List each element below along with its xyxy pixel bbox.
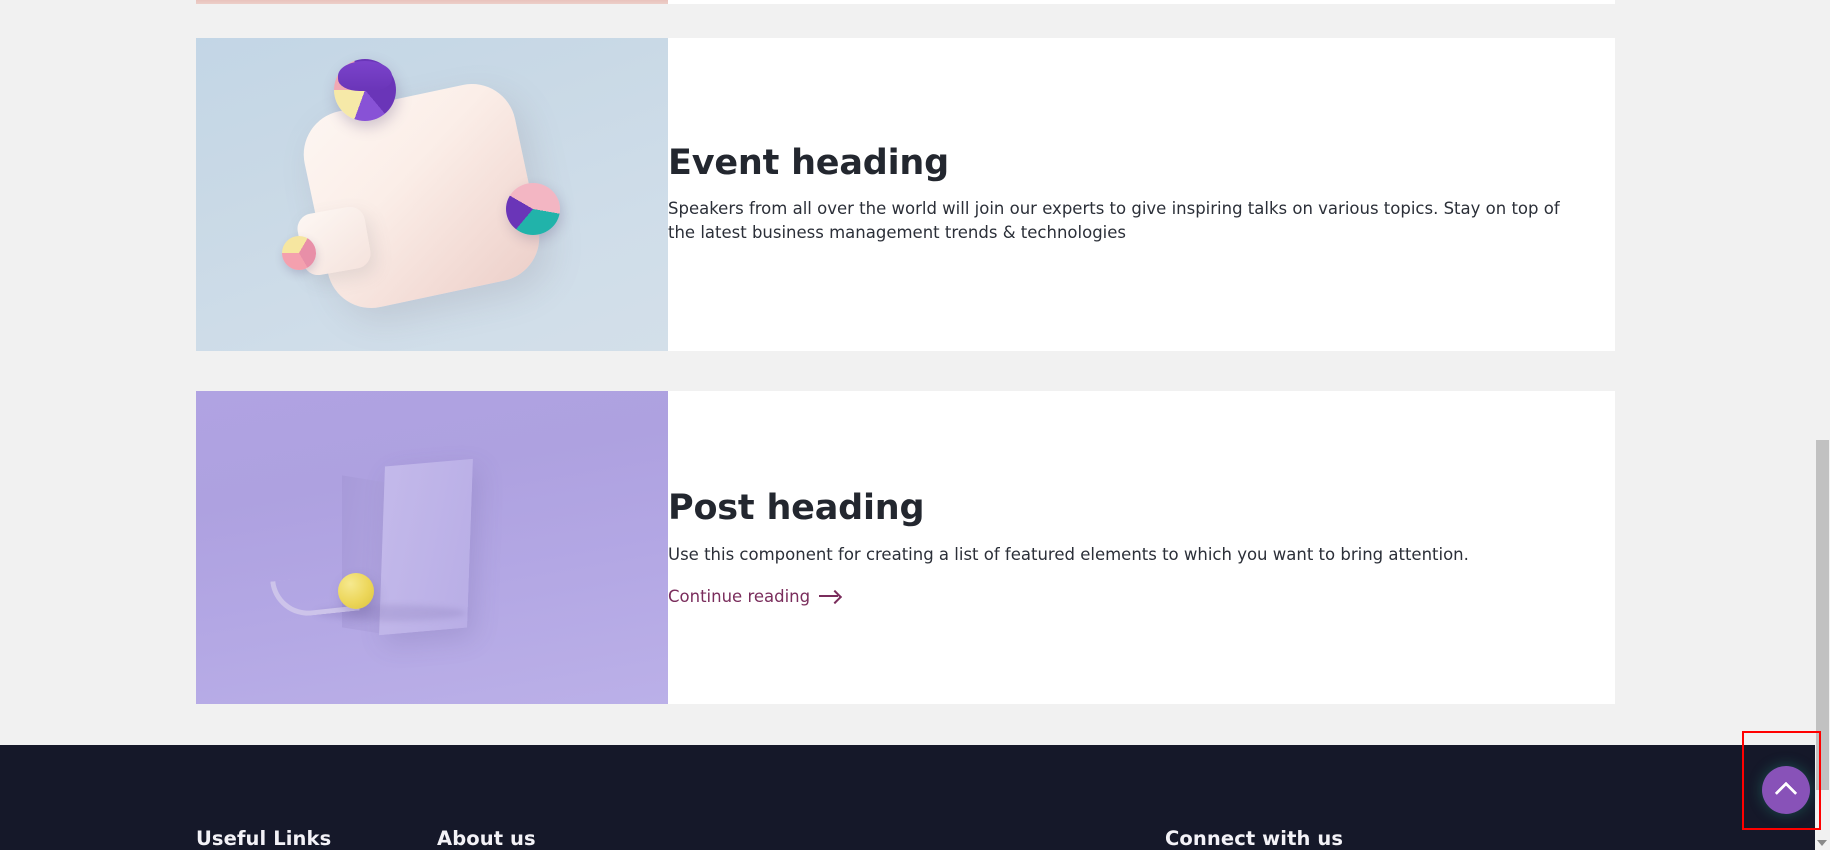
post-yellow-sphere [338,573,374,609]
event-card-text: Speakers from all over the world will jo… [668,197,1571,245]
event-card-body: Event heading Speakers from all over the… [668,38,1615,351]
post-card-body: Post heading Use this component for crea… [668,391,1615,704]
vertical-scrollbar-thumb[interactable] [1816,440,1829,790]
previous-card-body-sliver [668,0,1615,4]
event-pink-sphere [282,236,316,270]
page-root: Event heading Speakers from all over the… [0,0,1830,850]
footer-heading-about-us: About us [437,827,536,850]
feature-card-post[interactable]: Post heading Use this component for crea… [196,391,1615,704]
event-3d-illustration [196,38,668,351]
footer-heading-connect-with-us: Connect with us [1165,827,1343,850]
scrollbar-arrow-down-icon[interactable] [1817,840,1827,846]
feature-card-event[interactable]: Event heading Speakers from all over the… [196,38,1615,351]
scroll-to-top-button[interactable] [1762,766,1810,814]
chevron-up-icon [1775,782,1798,805]
event-purple-sphere [334,59,396,121]
post-3d-illustration [196,391,668,704]
continue-reading-link[interactable]: Continue reading [668,587,841,606]
event-card-title: Event heading [668,144,1571,183]
post-card-text: Use this component for creating a list o… [668,543,1571,567]
continue-reading-label: Continue reading [668,587,810,606]
previous-card-media-sliver [196,0,668,4]
post-card-title: Post heading [668,489,1571,528]
arrow-right-icon [819,589,841,603]
footer-heading-useful-links: Useful Links [196,827,331,850]
event-teal-sphere [506,183,560,235]
